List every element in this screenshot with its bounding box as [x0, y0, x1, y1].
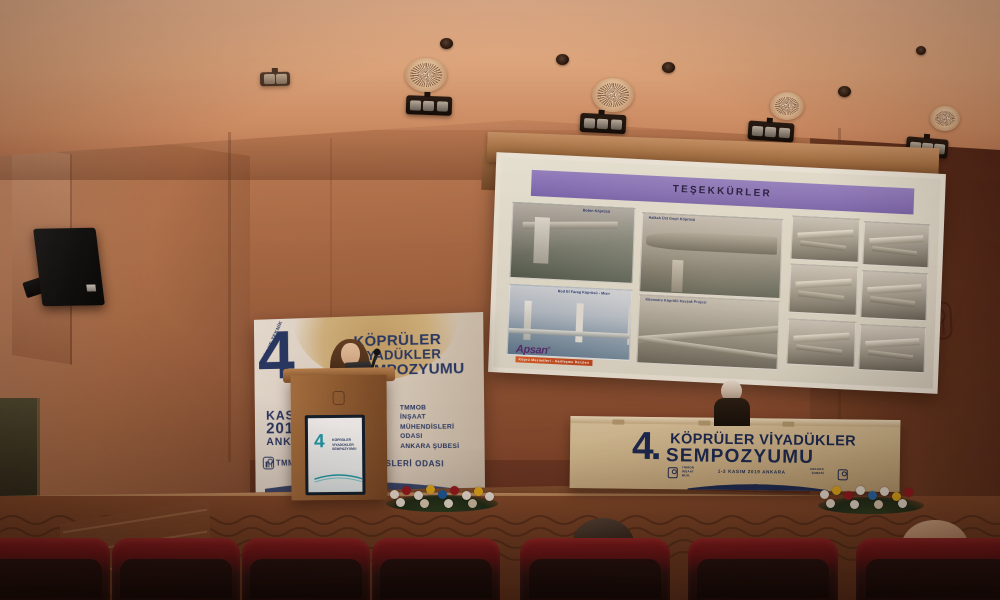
flower [485, 492, 494, 501]
flower [904, 488, 913, 497]
slide-photo [788, 264, 858, 316]
recessed-spotlight-icon [662, 62, 675, 73]
presentation-slide: TEŞEKKÜRLER Botan Köprüsü Halkalı Üst Ge… [493, 157, 941, 388]
auditorium-photo: TEŞEKKÜRLER Botan Köprüsü Halkalı Üst Ge… [0, 0, 1000, 600]
banner-clip [782, 422, 794, 427]
audience-seat [242, 538, 370, 600]
flower [820, 490, 829, 499]
wall-seam [228, 132, 231, 462]
imo-logo-icon [668, 467, 678, 478]
flower [450, 486, 459, 495]
flower [826, 499, 835, 508]
podium-logo-icon [333, 391, 345, 405]
slide-photo [790, 216, 860, 263]
apsan-logo: Apsan® Köprü Mesnetleri - Genleşme Derzl… [515, 344, 593, 366]
ceiling-diffuser-icon [930, 106, 960, 131]
registered-mark-icon: ® [548, 345, 551, 350]
flower [438, 490, 447, 499]
flower [468, 499, 477, 508]
panelist-torso [714, 398, 750, 426]
flower [874, 500, 883, 509]
audience-seat-row [0, 538, 1000, 600]
audience-seat [0, 538, 110, 600]
ceiling-diffuser-icon [405, 58, 447, 92]
slide-photo [863, 221, 931, 268]
slide-photo [786, 319, 856, 368]
recessed-spotlight-icon [556, 54, 569, 65]
podium-slide-number: 4 [314, 432, 325, 451]
podium-slide-bridge-icon [314, 470, 362, 482]
ceiling-diffuser-icon [592, 78, 634, 112]
apsan-logo-text: Apsan [516, 343, 548, 357]
slide-photo [859, 324, 927, 373]
wall-seam [330, 138, 332, 318]
backdrop-organizer: TMMOB İNŞAAT MÜHENDİSLERİ ODASI ANKARA Ş… [400, 403, 460, 451]
recessed-spotlight-icon [838, 86, 851, 97]
flower [880, 487, 889, 496]
side-door [0, 398, 40, 503]
seated-panelist [712, 380, 752, 424]
flower [420, 499, 429, 508]
slide-photo [510, 202, 636, 284]
stage-spotlight-bar-icon [260, 72, 290, 87]
slide-photo [861, 270, 929, 321]
flower-arrangement [386, 474, 498, 512]
flower [898, 499, 907, 508]
podium-monitor: 4 KÖPRÜLER VİYADÜKLER SEMPOZYUMU [305, 415, 366, 496]
banner-clip [612, 419, 624, 424]
table-banner-right-mark-text: ANKARA ŞUBESİ [810, 468, 824, 476]
flower [444, 499, 453, 508]
stage-spotlight-bar-icon [580, 113, 627, 134]
recessed-spotlight-icon [916, 46, 926, 55]
stage-spotlight-bar-icon [406, 95, 453, 116]
podium: 4 KÖPRÜLER VİYADÜKLER SEMPOZYUMU [290, 375, 387, 501]
flower [868, 491, 877, 500]
pa-loudspeaker [33, 228, 105, 307]
stage-spotlight-bar-icon [747, 120, 794, 142]
recessed-spotlight-icon [440, 38, 453, 49]
podium-monitor-slide: 4 KÖPRÜLER VİYADÜKLER SEMPOZYUMU [308, 418, 363, 492]
flower-arrangement [818, 476, 924, 514]
audience-seat [688, 538, 838, 600]
slide-title: TEŞEKKÜRLER [673, 184, 773, 200]
audience-seat [520, 538, 670, 600]
flower [474, 487, 483, 496]
projection-screen: TEŞEKKÜRLER Botan Köprüsü Halkalı Üst Ge… [488, 152, 946, 394]
table-banner-date: 1-2 KASIM 2019 ANKARA [718, 469, 786, 475]
flower [426, 485, 435, 494]
flower [850, 500, 859, 509]
ceiling-diffuser-icon [770, 92, 804, 120]
slide-photo [636, 294, 779, 370]
flower [396, 498, 405, 507]
flower [402, 486, 411, 495]
flower [844, 491, 853, 500]
slide-photo [639, 213, 783, 300]
audience-seat [112, 538, 240, 600]
imo-logo-icon [263, 457, 274, 470]
flower [832, 486, 841, 495]
flower [856, 486, 865, 495]
podium-slide-text: KÖPRÜLER VİYADÜKLER SEMPOZYUMU [332, 438, 356, 452]
table-banner-number: 4. [632, 431, 659, 463]
table-banner-left-mark-text: TMMOB İNŞAAT MÜH. [682, 466, 694, 478]
banner-clip [698, 421, 710, 426]
audience-seat [372, 538, 500, 600]
audience-seat [856, 538, 1000, 600]
